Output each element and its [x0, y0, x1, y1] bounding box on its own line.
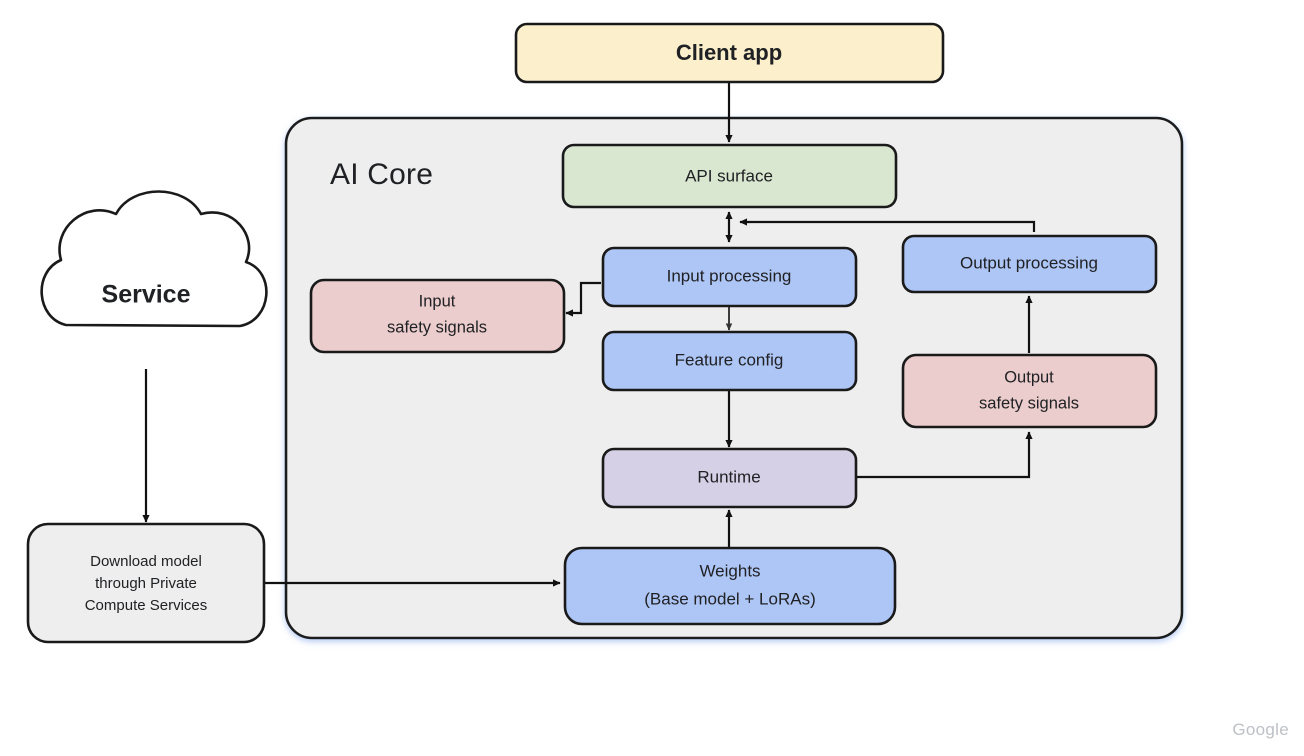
weights-line-1: Weights	[699, 561, 760, 580]
node-runtime[interactable]: Runtime	[603, 449, 856, 507]
diagram-canvas: AI Core	[0, 0, 1304, 756]
node-feature-config[interactable]: Feature config	[603, 332, 856, 390]
weights-line-2: (Base model + LoRAs)	[644, 589, 816, 608]
node-api-surface[interactable]: API surface	[563, 145, 896, 207]
download-model-line-3: Compute Services	[85, 597, 208, 614]
output-safety-signals-line-1: Output	[1004, 368, 1054, 386]
node-input-safety-signals[interactable]: Input safety signals	[311, 280, 564, 352]
output-safety-signals-box[interactable]	[903, 355, 1156, 427]
ai-core-title: AI Core	[330, 158, 433, 191]
node-output-processing[interactable]: Output processing	[903, 236, 1156, 292]
output-safety-signals-line-2: safety signals	[979, 394, 1079, 412]
node-output-safety-signals[interactable]: Output safety signals	[903, 355, 1156, 427]
api-surface-label: API surface	[685, 166, 773, 185]
weights-box[interactable]	[565, 548, 895, 624]
node-input-processing[interactable]: Input processing	[603, 248, 856, 306]
input-safety-signals-box[interactable]	[311, 280, 564, 352]
node-client-app[interactable]: Client app	[516, 24, 943, 82]
node-weights[interactable]: Weights (Base model + LoRAs)	[565, 548, 895, 624]
input-safety-signals-line-2: safety signals	[387, 318, 487, 336]
service-cloud-label: Service	[102, 281, 191, 309]
architecture-diagram: AI Core	[0, 0, 1304, 756]
download-model-line-2: through Private	[95, 575, 197, 592]
output-processing-label: Output processing	[960, 253, 1098, 272]
node-service-cloud[interactable]: Service	[42, 192, 267, 327]
runtime-label: Runtime	[697, 467, 760, 486]
download-model-line-1: Download model	[90, 553, 202, 570]
feature-config-label: Feature config	[675, 350, 784, 369]
client-app-label: Client app	[676, 40, 782, 65]
google-watermark: Google	[1232, 720, 1289, 739]
input-safety-signals-line-1: Input	[419, 292, 456, 310]
node-download-model[interactable]: Download model through Private Compute S…	[28, 524, 264, 642]
input-processing-label: Input processing	[667, 266, 792, 285]
